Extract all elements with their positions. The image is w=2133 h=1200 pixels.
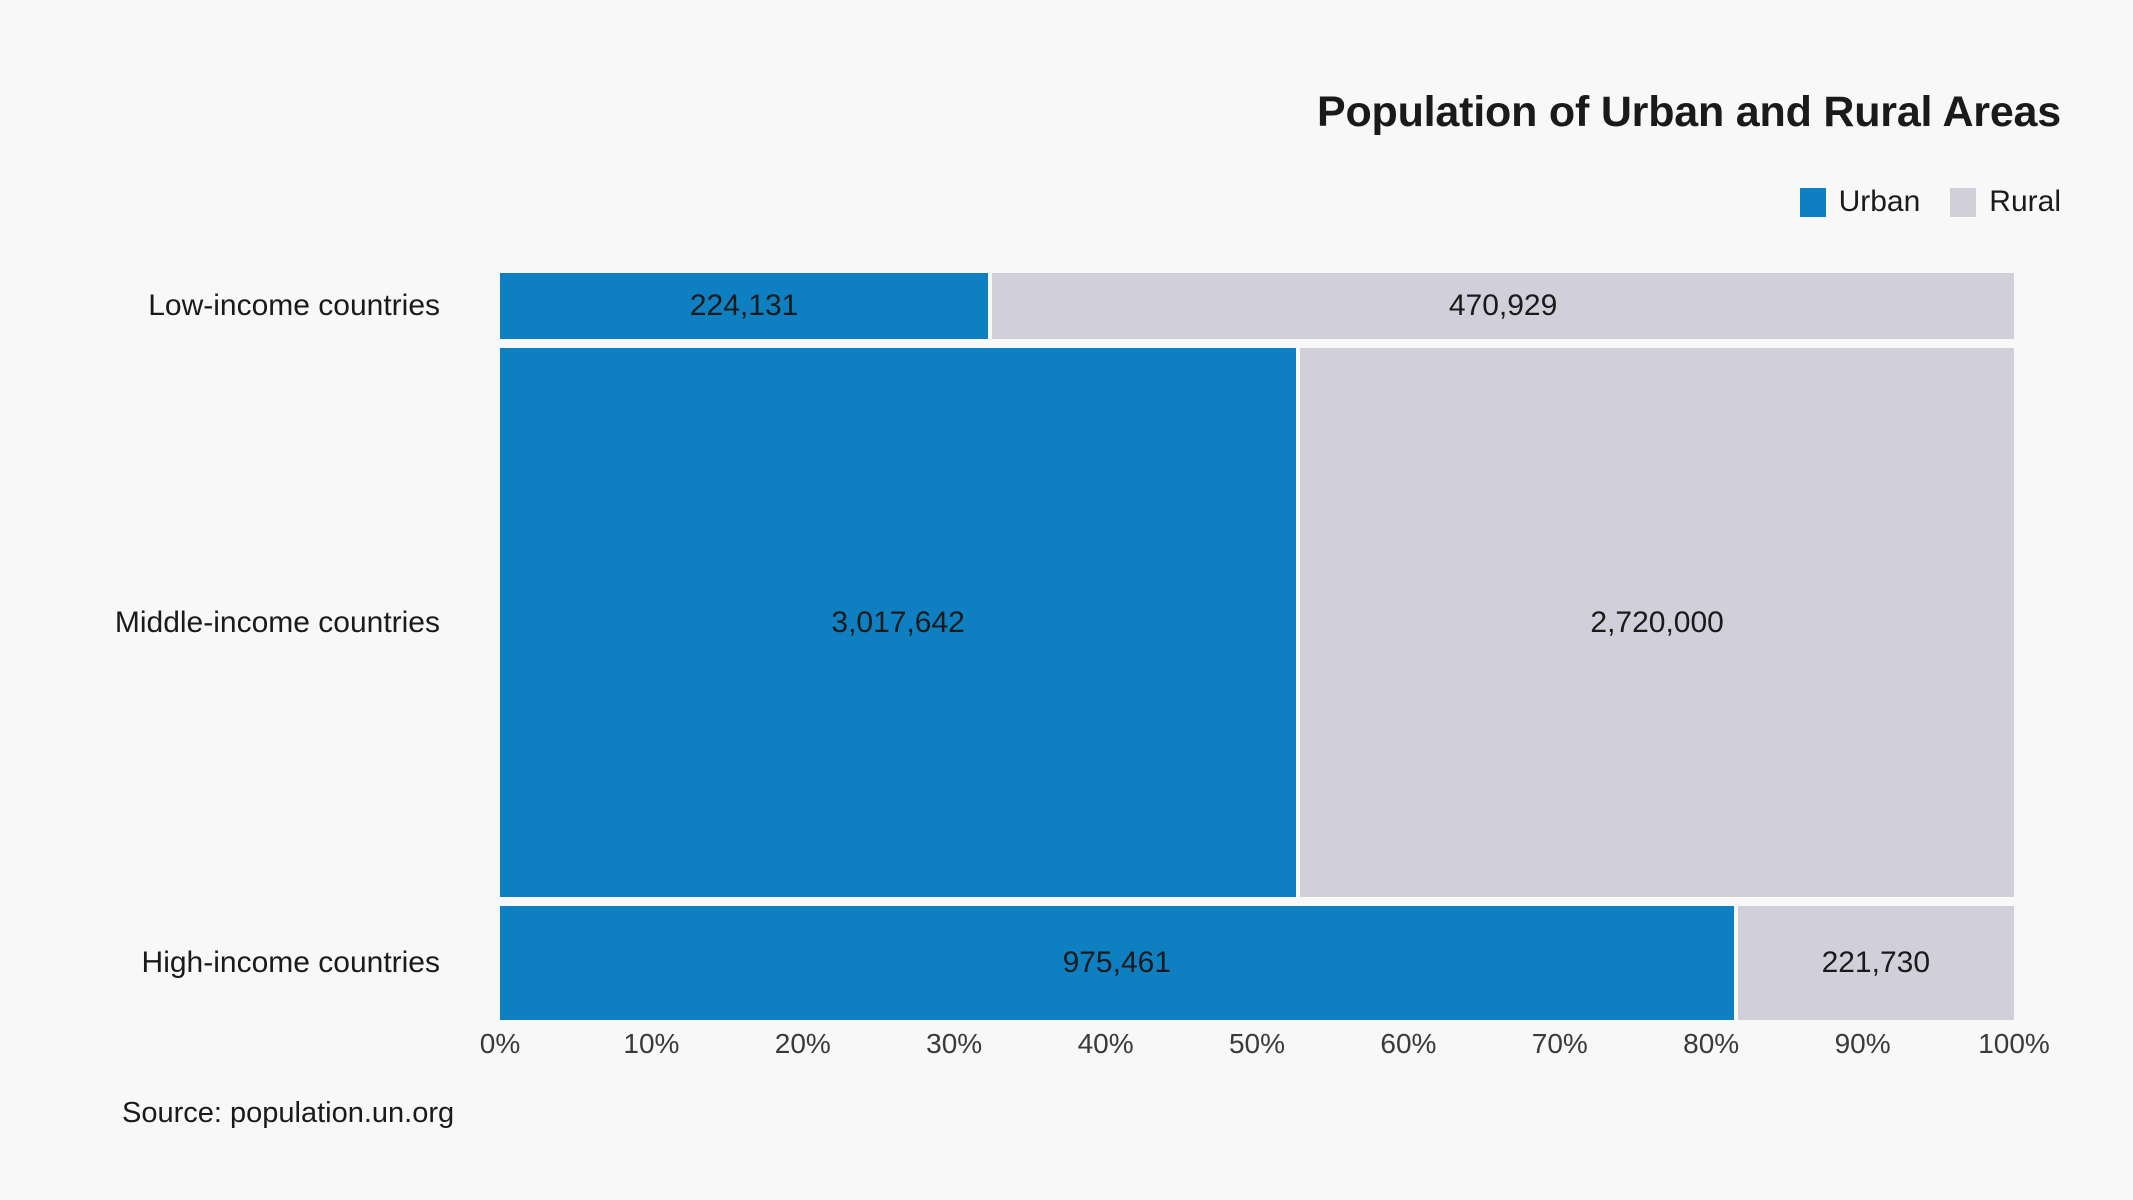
legend-item-rural[interactable]: Rural xyxy=(1950,185,2061,219)
category-label: High-income countries xyxy=(0,946,470,980)
plot-area: 224,131470,929Low-income countries3,017,… xyxy=(500,273,2014,1020)
x-axis: 0%10%20%30%40%50%60%70%80%90%100% xyxy=(500,1028,2014,1072)
bar-segment-rural[interactable]: 2,720,000 xyxy=(1296,348,2014,896)
bar-row: 3,017,6422,720,000 xyxy=(500,348,2014,896)
x-axis-tick-label: 20% xyxy=(775,1028,831,1060)
legend-label: Urban xyxy=(1839,185,1921,219)
x-axis-tick-label: 10% xyxy=(623,1028,679,1060)
bar-row: 224,131470,929 xyxy=(500,273,2014,339)
chart-legend: UrbanRural xyxy=(1800,185,2061,219)
x-axis-tick-label: 90% xyxy=(1835,1028,1891,1060)
bar-segment-urban[interactable]: 975,461 xyxy=(500,906,1734,1020)
x-axis-tick-label: 60% xyxy=(1380,1028,1436,1060)
category-label: Low-income countries xyxy=(0,289,470,323)
bar-value-label: 221,730 xyxy=(1822,946,1930,980)
source-note: Source: population.un.org xyxy=(122,1097,454,1130)
chart-title: Population of Urban and Rural Areas xyxy=(1317,88,2061,137)
bar-value-label: 2,720,000 xyxy=(1590,606,1723,640)
x-axis-tick-label: 80% xyxy=(1683,1028,1739,1060)
x-axis-tick-label: 40% xyxy=(1078,1028,1134,1060)
legend-swatch-urban-icon xyxy=(1800,188,1826,217)
bar-value-label: 975,461 xyxy=(1063,946,1171,980)
legend-label: Rural xyxy=(1989,185,2061,219)
legend-item-urban[interactable]: Urban xyxy=(1800,185,1921,219)
x-axis-tick-label: 30% xyxy=(926,1028,982,1060)
x-axis-tick-label: 0% xyxy=(480,1028,520,1060)
chart-canvas: Population of Urban and Rural Areas Urba… xyxy=(0,0,2133,1200)
bar-segment-urban[interactable]: 224,131 xyxy=(500,273,988,339)
bar-row: 975,461221,730 xyxy=(500,906,2014,1020)
bar-value-label: 470,929 xyxy=(1449,289,1557,323)
x-axis-tick-label: 100% xyxy=(1978,1028,2050,1060)
bar-segment-rural[interactable]: 470,929 xyxy=(988,273,2014,339)
bar-segment-urban[interactable]: 3,017,642 xyxy=(500,348,1296,896)
x-axis-tick-label: 50% xyxy=(1229,1028,1285,1060)
bar-segment-rural[interactable]: 221,730 xyxy=(1734,906,2014,1020)
category-label: Middle-income countries xyxy=(0,606,470,640)
bar-value-label: 3,017,642 xyxy=(831,606,964,640)
legend-swatch-rural-icon xyxy=(1950,188,1976,217)
bar-value-label: 224,131 xyxy=(690,289,798,323)
x-axis-tick-label: 70% xyxy=(1532,1028,1588,1060)
